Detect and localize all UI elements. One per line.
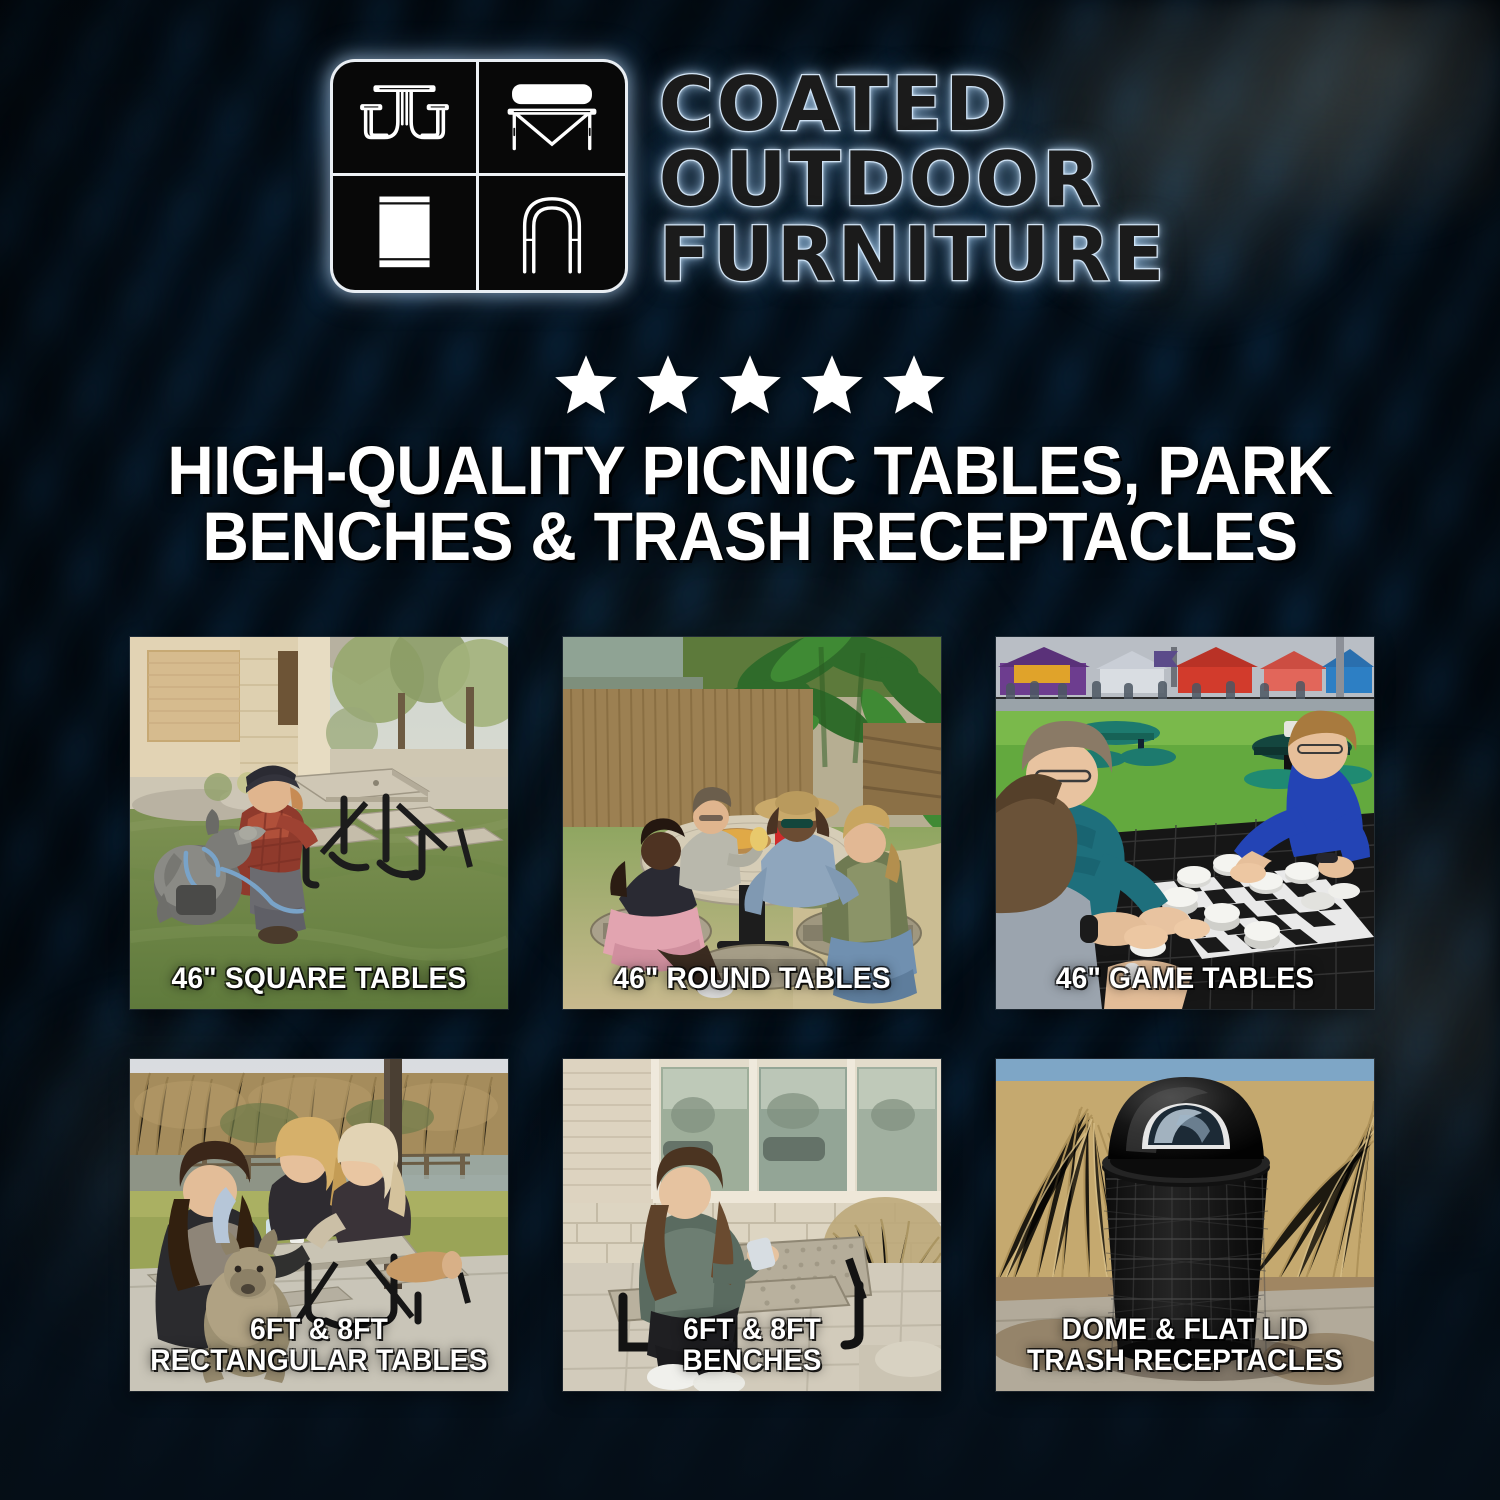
- page-title: HIGH-QUALITY PICNIC TABLES, PARK BENCHES…: [53, 438, 1448, 570]
- brand-logo: COATED OUTDOOR FURNITURE: [0, 62, 1500, 290]
- product-caption: 46" ROUND TABLES: [574, 964, 929, 995]
- headline-line-1: HIGH-QUALITY PICNIC TABLES, PARK: [53, 438, 1448, 504]
- picnic-table-icon: [333, 62, 479, 176]
- poster-canvas: COATED OUTDOOR FURNITURE HIGH-QUALITY PI…: [0, 0, 1500, 1500]
- logo-word-line-1: COATED: [659, 68, 1168, 141]
- caption-line: 46" SQUARE TABLES: [147, 964, 491, 995]
- product-grid: 46" SQUARE TABLES: [130, 637, 1374, 1391]
- product-caption: DOME & FLAT LID TRASH RECEPTACLES: [1007, 1315, 1362, 1377]
- trash-receptacle-icon: [333, 176, 479, 290]
- caption-line: 46" GAME TABLES: [1013, 964, 1357, 995]
- product-caption: 46" GAME TABLES: [1007, 964, 1362, 995]
- star-icon: [798, 352, 866, 418]
- product-tile-benches[interactable]: 6FT & 8FT BENCHES: [563, 1059, 941, 1391]
- product-tile-square-tables[interactable]: 46" SQUARE TABLES: [130, 637, 508, 1009]
- product-caption: 46" SQUARE TABLES: [141, 964, 496, 995]
- caption-line: RECTANGULAR TABLES: [147, 1346, 491, 1377]
- caption-line: 6FT & 8FT: [147, 1315, 491, 1346]
- product-grid-row: 46" SQUARE TABLES: [130, 637, 1374, 1009]
- headline-line-2: BENCHES & TRASH RECEPTACLES: [53, 504, 1448, 570]
- product-caption: 6FT & 8FT RECTANGULAR TABLES: [141, 1315, 496, 1377]
- product-photo: [130, 637, 508, 1009]
- bike-rack-icon: [479, 176, 625, 290]
- star-rating: [0, 352, 1500, 418]
- caption-line: 46" ROUND TABLES: [580, 964, 924, 995]
- caption-line: BENCHES: [580, 1346, 924, 1377]
- park-bench-icon: [479, 62, 625, 176]
- logo-word-line-3: FURNITURE: [659, 218, 1168, 291]
- product-photo: [996, 637, 1374, 1009]
- logo-mark: [333, 62, 625, 290]
- product-caption: 6FT & 8FT BENCHES: [574, 1315, 929, 1377]
- product-tile-round-tables[interactable]: 46" ROUND TABLES: [563, 637, 941, 1009]
- product-photo: [563, 637, 941, 1009]
- star-icon: [634, 352, 702, 418]
- caption-line: DOME & FLAT LID: [1013, 1315, 1357, 1346]
- product-tile-game-tables[interactable]: 46" GAME TABLES: [996, 637, 1374, 1009]
- caption-line: 6FT & 8FT: [580, 1315, 924, 1346]
- product-tile-trash-receptacles[interactable]: DOME & FLAT LID TRASH RECEPTACLES: [996, 1059, 1374, 1391]
- star-icon: [880, 352, 948, 418]
- logo-wordmark: COATED OUTDOOR FURNITURE: [659, 62, 1168, 290]
- product-grid-row: 6FT & 8FT RECTANGULAR TABLES: [130, 1059, 1374, 1391]
- star-icon: [716, 352, 784, 418]
- logo-word-line-2: OUTDOOR: [659, 143, 1168, 216]
- poster-content: COATED OUTDOOR FURNITURE HIGH-QUALITY PI…: [0, 0, 1500, 1500]
- product-tile-rectangular-tables[interactable]: 6FT & 8FT RECTANGULAR TABLES: [130, 1059, 508, 1391]
- caption-line: TRASH RECEPTACLES: [1013, 1346, 1357, 1377]
- star-icon: [552, 352, 620, 418]
